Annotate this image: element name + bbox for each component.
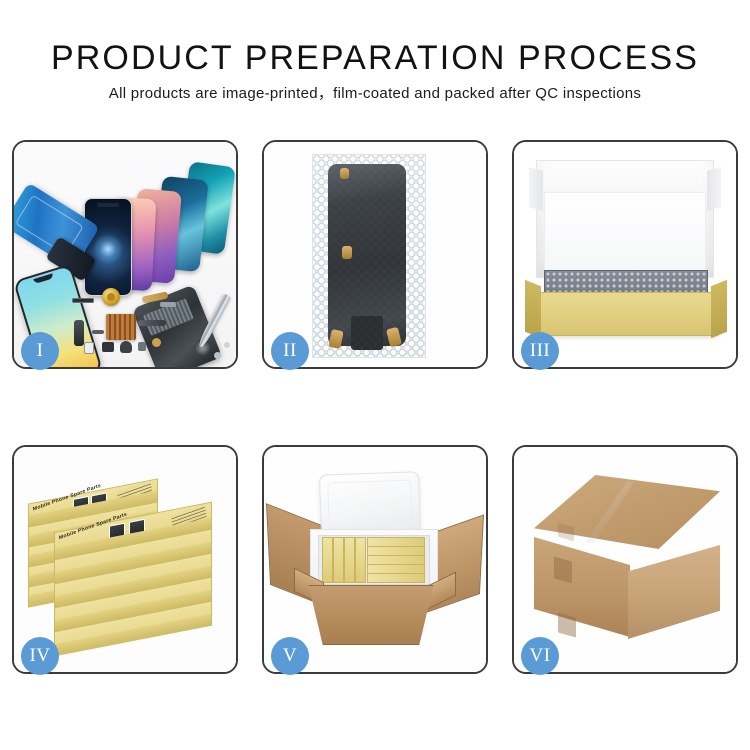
small-part-4-icon — [138, 342, 146, 351]
carton-left-face-icon — [534, 537, 630, 637]
packed-yellow-box-9 — [367, 573, 425, 583]
screw-2-icon — [224, 342, 230, 348]
process-step-panel-2: II — [262, 140, 488, 369]
step-badge-2: II — [271, 332, 309, 370]
packed-yellow-box-1 — [322, 537, 333, 583]
packed-yellow-box-2 — [333, 537, 344, 583]
connector-strip-icon — [72, 298, 94, 303]
step-badge-6: VI — [521, 637, 559, 675]
carton-right-face-icon — [628, 545, 720, 639]
small-part-7-icon — [92, 330, 104, 334]
carton-tape-lower-icon — [558, 612, 576, 637]
wrapped-screen-assembly-icon — [328, 164, 406, 346]
screw-1-icon — [214, 352, 221, 359]
flex-cable-grey-icon — [138, 320, 166, 326]
process-step-panel-4: Mobile Phone Spare Parts Mobile Phone Sp… — [12, 445, 238, 674]
tape-tab-1-icon — [340, 168, 349, 179]
process-steps-grid: I II — [12, 140, 738, 674]
white-foam-sheet-icon — [544, 192, 706, 272]
process-step-panel-5: V — [262, 445, 488, 674]
tape-tab-2-icon — [342, 246, 352, 259]
yellow-box-tray-icon — [534, 292, 718, 336]
step-badge-4: IV — [21, 637, 59, 675]
process-step-panel-3: III — [512, 140, 738, 369]
small-part-1-icon — [84, 342, 94, 354]
copper-mesh-component-icon — [106, 314, 136, 340]
step-badge-3: III — [521, 332, 559, 370]
small-part-2-icon — [102, 342, 114, 352]
process-step-panel-6: VI — [512, 445, 738, 674]
small-part-3-icon — [120, 341, 132, 353]
step-badge-1: I — [21, 332, 59, 370]
page-title: PRODUCT PREPARATION PROCESS — [0, 38, 750, 78]
packed-yellow-box-3 — [344, 537, 355, 583]
flex-cable-vertical-icon — [74, 320, 84, 346]
process-step-panel-1: I — [12, 140, 238, 369]
small-part-5-icon — [152, 338, 161, 347]
carton-front-panel-icon — [300, 585, 442, 645]
tempered-glass-screen-icon — [84, 198, 132, 296]
small-part-6-icon — [160, 302, 176, 307]
page-subtitle: All products are image-printed，film-coat… — [0, 84, 750, 104]
header: PRODUCT PREPARATION PROCESS All products… — [0, 38, 750, 104]
packed-yellow-box-4 — [355, 537, 366, 583]
step-badge-5: V — [271, 637, 309, 675]
gold-coil-component-icon — [102, 288, 120, 306]
product-preparation-infographic: PRODUCT PREPARATION PROCESS All products… — [0, 0, 750, 750]
